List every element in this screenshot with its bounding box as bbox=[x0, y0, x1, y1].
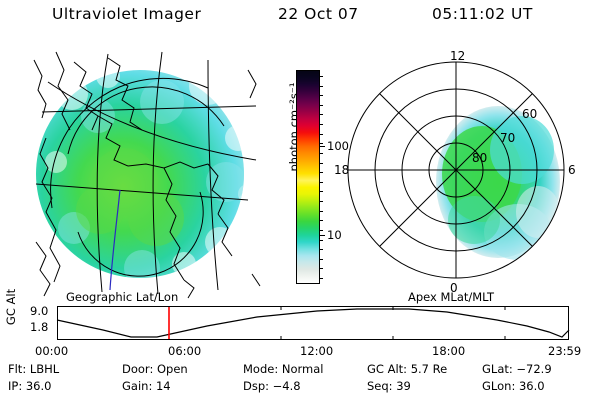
mlat-label-60: 60 bbox=[522, 107, 537, 121]
header-bar: Ultraviolet Imager 22 Oct 07 05:11:02 UT bbox=[0, 5, 600, 33]
gcalt-axis-label: GC Alt bbox=[4, 278, 18, 336]
status-door: Door: Open bbox=[122, 362, 188, 376]
colorbar-minor-tick bbox=[319, 124, 323, 125]
colorbar-minor-tick bbox=[319, 240, 323, 241]
colorbar-minor-tick bbox=[319, 95, 323, 96]
status-bar: Flt: LBHL IP: 36.0 Door: Open Gain: 14 M… bbox=[0, 362, 600, 398]
colorbar-minor-tick bbox=[319, 134, 323, 135]
time-tick-3: 18:00 bbox=[432, 344, 465, 358]
mlt-label-12: 12 bbox=[450, 49, 465, 63]
colorbar-tick-mark bbox=[319, 146, 325, 147]
colorbar-box bbox=[296, 70, 320, 284]
page-title: Ultraviolet Imager bbox=[52, 5, 201, 23]
colorbar-minor-tick bbox=[319, 163, 323, 164]
time-tick-0: 00:00 bbox=[35, 344, 68, 358]
mlt-plot-title: Apex MLat/MLT bbox=[408, 290, 494, 304]
status-mode: Mode: Normal bbox=[243, 362, 323, 376]
colorbar-minor-tick bbox=[319, 182, 323, 183]
status-dsp: Dsp: −4.8 bbox=[243, 379, 301, 393]
mlt-label-6: 6 bbox=[568, 163, 576, 177]
colorbar-minor-tick bbox=[319, 172, 323, 173]
time-label: 05:11:02 UT bbox=[432, 5, 533, 23]
mlat-label-70: 70 bbox=[500, 131, 515, 145]
time-tick-2: 12:00 bbox=[300, 344, 333, 358]
colorbar-minor-tick bbox=[319, 259, 323, 260]
date-label: 22 Oct 07 bbox=[278, 5, 359, 23]
status-seq: Seq: 39 bbox=[367, 379, 411, 393]
colorbar-minor-tick bbox=[319, 230, 323, 231]
colorbar-minor-tick bbox=[319, 105, 323, 106]
status-flt: Flt: LBHL bbox=[8, 362, 59, 376]
time-axis: 00:00 06:00 12:00 18:00 23:59 bbox=[0, 344, 600, 360]
aurora-disk bbox=[36, 64, 258, 286]
status-glat: GLat: −72.9 bbox=[482, 362, 552, 376]
orbit-altitude-panel[interactable]: GC Alt 9.0 1.8 Geographic Lat/Lon Apex M… bbox=[0, 292, 600, 346]
gcalt-tick-high: 9.0 bbox=[30, 304, 48, 318]
status-gain: Gain: 14 bbox=[122, 379, 171, 393]
colorbar: photon cm⁻²s⁻¹ 10010 bbox=[272, 62, 334, 294]
colorbar-minor-tick bbox=[319, 191, 323, 192]
geographic-plot[interactable] bbox=[12, 42, 274, 300]
colorbar-minor-tick bbox=[319, 278, 323, 279]
colorbar-minor-tick bbox=[319, 86, 323, 87]
colorbar-minor-tick bbox=[319, 143, 323, 144]
colorbar-minor-tick bbox=[319, 249, 323, 250]
gcalt-tick-low: 1.8 bbox=[30, 320, 48, 334]
polar-grid bbox=[348, 62, 564, 278]
colorbar-minor-tick bbox=[319, 268, 323, 269]
colorbar-minor-tick bbox=[319, 114, 323, 115]
colorbar-minor-tick bbox=[319, 153, 323, 154]
colorbar-minor-tick bbox=[319, 76, 323, 77]
time-tick-4: 23:59 bbox=[548, 344, 581, 358]
colorbar-minor-tick bbox=[319, 211, 323, 212]
status-gcalt: GC Alt: 5.7 Re bbox=[367, 362, 447, 376]
colorbar-minor-tick bbox=[319, 220, 323, 221]
mlt-label-18: 18 bbox=[334, 163, 349, 177]
status-ip: IP: 36.0 bbox=[8, 379, 51, 393]
geographic-plot-title: Geographic Lat/Lon bbox=[66, 290, 178, 304]
colorbar-tick-mark bbox=[319, 235, 325, 236]
mlt-plot[interactable]: 12 6 18 0 60 70 80 bbox=[332, 42, 590, 300]
colorbar-gradient bbox=[297, 71, 319, 283]
status-glon: GLon: 36.0 bbox=[482, 379, 545, 393]
mlat-label-80: 80 bbox=[472, 151, 487, 165]
altitude-trace bbox=[57, 309, 569, 337]
time-tick-1: 06:00 bbox=[168, 344, 201, 358]
orbit-altitude-chart bbox=[57, 306, 569, 340]
colorbar-minor-tick bbox=[319, 201, 323, 202]
